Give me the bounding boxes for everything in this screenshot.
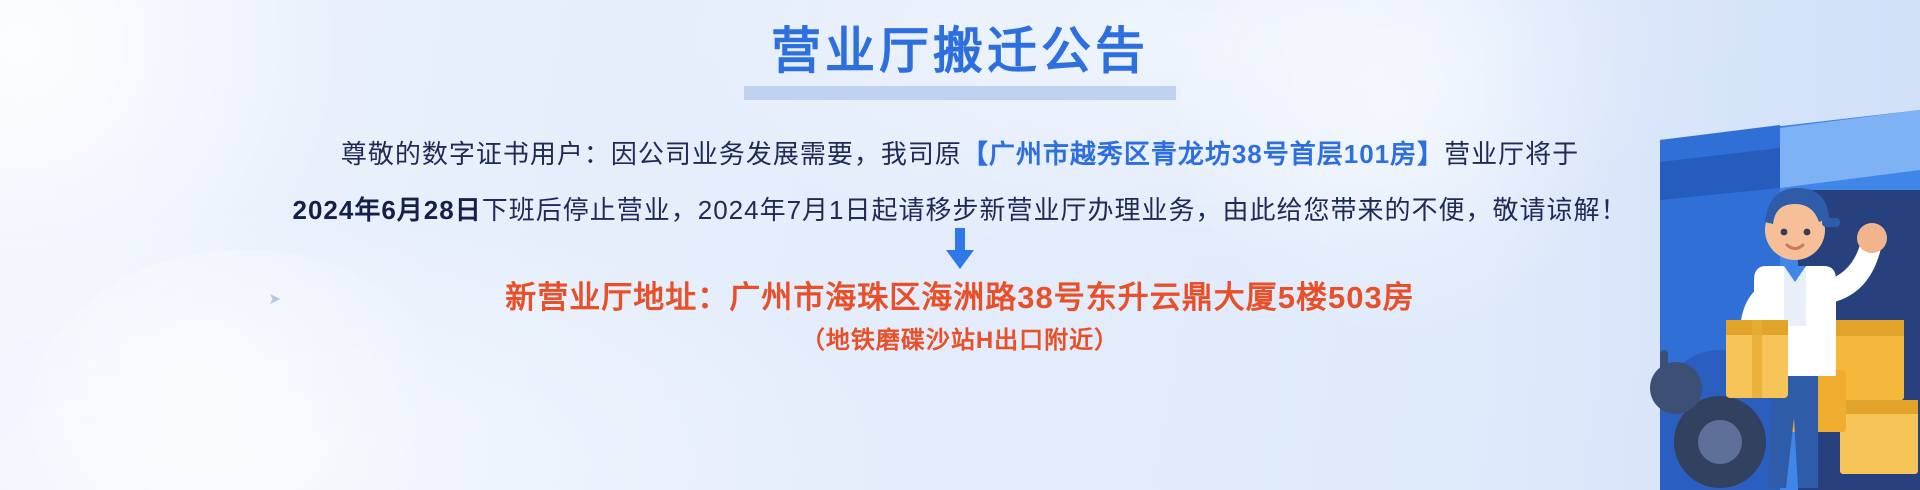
worker-cap-brim [1822,218,1840,227]
held-box-strap [1752,320,1762,398]
cargo-box-1-tape [1830,320,1904,336]
delivery-truck-illustration [1360,70,1920,490]
arrow-down-icon [943,228,977,270]
title-container: 营业厅搬迁公告 [0,26,1920,76]
mirror-glass [1650,362,1702,414]
cargo-box-2-tape [1840,400,1918,414]
announcement-banner: 营业厅搬迁公告 尊敬的数字证书用户：因公司业务发展需要，我司原【广州市越秀区青龙… [0,0,1920,490]
page-title: 营业厅搬迁公告 [765,26,1155,76]
title-highlight-bar [744,86,1176,100]
truck-hubcap [1698,420,1742,464]
mirror-arm [1660,350,1668,394]
closing-date: 2024年6月28日 [293,195,482,225]
announcement-line-1-before: 尊敬的数字证书用户：因公司业务发展需要，我司原 [341,139,962,169]
worker-eye-left [1781,229,1788,236]
worker-eye-right [1804,229,1811,236]
worker-hand-raised [1857,223,1887,253]
